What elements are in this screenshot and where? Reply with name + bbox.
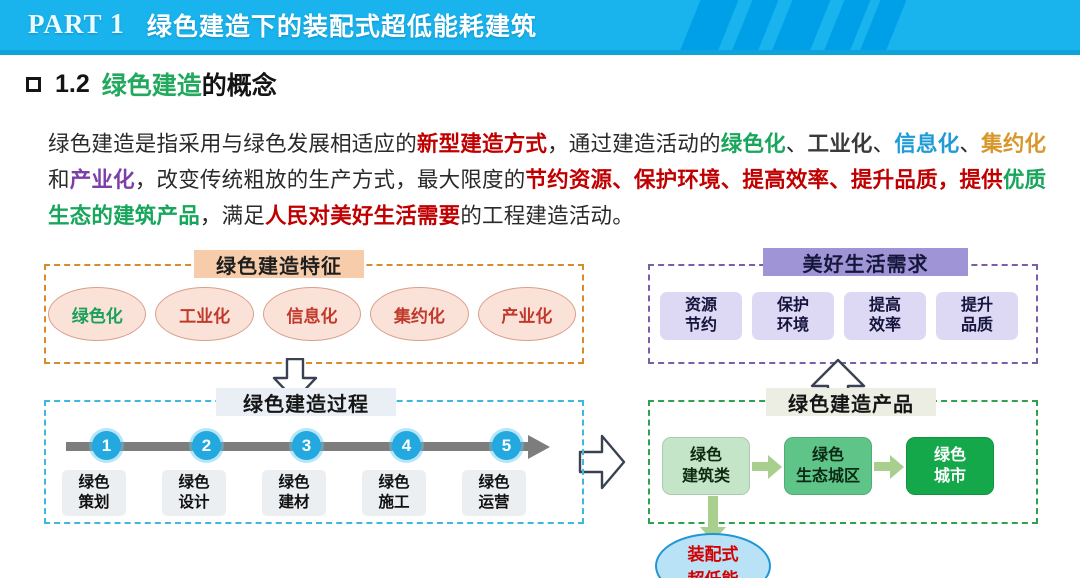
need-item-line2: 环境 — [777, 316, 809, 336]
need-item-line2: 品质 — [961, 316, 993, 336]
product-item[interactable]: 绿色 生态城区 — [784, 437, 872, 495]
concept-diagram: 绿色建造特征 绿色化 工业化 信息化 集约化 产业化 美好生活需求 资源 节约 … — [0, 248, 1080, 578]
product-flow-arrow-icon — [872, 454, 906, 478]
need-item-line1: 保护 — [777, 296, 809, 316]
prefab-callout-line2: 超低能 — [688, 567, 739, 578]
product-item-line1: 绿色 — [812, 445, 844, 466]
banner-stripe — [729, 0, 781, 50]
process-step[interactable]: 绿色 策划 — [62, 470, 126, 516]
para-seg: 、 — [873, 132, 895, 156]
para-seg: ，改变传统粗放的生产方式，最大限度的 — [135, 168, 526, 192]
features-item-list: 绿色化 工业化 信息化 集约化 产业化 — [48, 286, 576, 342]
part-number: 1 — [110, 9, 125, 40]
process-step-line2: 施工 — [378, 493, 409, 513]
arrow-shaft — [708, 496, 718, 529]
process-step[interactable]: 绿色 设计 — [162, 470, 226, 516]
process-step-line1: 绿色 — [178, 473, 209, 493]
process-step-line2: 建材 — [278, 493, 309, 513]
arrow-head — [768, 455, 782, 479]
para-seg: 的工程建造活动。 — [460, 204, 634, 228]
timeline-step-marker[interactable]: 3 — [292, 431, 321, 460]
timeline-step-marker[interactable]: 2 — [192, 431, 221, 460]
process-step-list: 绿色 策划 绿色 设计 绿色 建材 绿色 施工 绿色 运营 — [62, 470, 562, 516]
para-seg-highlight-red: 人民对美好生活需要 — [265, 204, 460, 228]
para-seg: ，通过建造活动的 — [547, 132, 721, 156]
banner-title-group: PART 1 绿色建造下的装配式超低能耗建筑 — [0, 0, 537, 50]
para-seg-highlight-red: 提供 — [959, 168, 1002, 192]
product-flow-arrow-icon — [750, 454, 784, 478]
process-step-line2: 策划 — [78, 493, 109, 513]
para-seg-highlight-green: 绿色化 — [721, 132, 786, 156]
feature-item[interactable]: 信息化 — [263, 287, 361, 341]
section-heading: 1.2 绿色建造的概念 — [26, 66, 277, 102]
para-seg-highlight-purple: 产业化 — [70, 168, 135, 192]
process-step-line2: 设计 — [178, 493, 209, 513]
banner-stripe — [769, 0, 833, 50]
product-item-line2: 生态城区 — [796, 466, 860, 487]
feature-item[interactable]: 工业化 — [155, 287, 253, 341]
para-seg: 和 — [48, 168, 70, 192]
process-step[interactable]: 绿色 建材 — [262, 470, 326, 516]
need-item[interactable]: 资源 节约 — [660, 292, 742, 340]
timeline-step-marker[interactable]: 4 — [392, 431, 421, 460]
product-item[interactable]: 绿色 城市 — [906, 437, 994, 495]
para-seg-highlight-blue: 信息化 — [894, 132, 959, 156]
timeline-step-marker[interactable]: 5 — [492, 431, 521, 460]
needs-item-list: 资源 节约 保护 环境 提高 效率 提升 品质 — [660, 290, 1030, 342]
process-step-line1: 绿色 — [278, 473, 309, 493]
para-seg: ， — [938, 168, 960, 192]
process-timeline: 1 2 3 4 5 — [66, 433, 556, 459]
slide-root: PART 1 绿色建造下的装配式超低能耗建筑 1.2 绿色建造的概念 绿色建造是… — [0, 0, 1080, 578]
para-seg-highlight-red: 节约资源、保护环境、提高效率、提升品质 — [525, 168, 937, 192]
product-item[interactable]: 绿色 建筑类 — [662, 437, 750, 495]
needs-panel-title: 美好生活需求 — [763, 248, 968, 276]
feature-item[interactable]: 绿色化 — [48, 287, 146, 341]
product-item-line2: 建筑类 — [682, 466, 730, 487]
arrow-head — [890, 455, 904, 479]
need-item[interactable]: 提升 品质 — [936, 292, 1018, 340]
product-item-line2: 城市 — [934, 466, 966, 487]
timeline-arrowhead-icon — [528, 435, 550, 459]
product-item-line1: 绿色 — [690, 445, 722, 466]
process-step-line2: 运营 — [478, 493, 509, 513]
need-item-line1: 资源 — [685, 296, 717, 316]
feature-item[interactable]: 集约化 — [370, 287, 468, 341]
process-step-line1: 绿色 — [378, 473, 409, 493]
banner-stripe-decoration — [690, 0, 890, 50]
section-title-black: 的概念 — [202, 72, 277, 100]
need-item-line1: 提高 — [869, 296, 901, 316]
header-banner: PART 1 绿色建造下的装配式超低能耗建筑 — [0, 0, 1080, 50]
section-number: 1.2 — [55, 70, 90, 99]
products-panel-title: 绿色建造产品 — [766, 388, 936, 416]
features-panel-title: 绿色建造特征 — [194, 250, 364, 278]
para-seg: ，满足 — [200, 204, 265, 228]
timeline-step-marker[interactable]: 1 — [92, 431, 121, 460]
part-label: PART 1 — [28, 9, 125, 41]
section-title-green: 绿色建造 — [102, 72, 202, 100]
process-step-line1: 绿色 — [478, 473, 509, 493]
arrow-shaft — [874, 462, 891, 471]
need-item-line1: 提升 — [961, 296, 993, 316]
process-step-line1: 绿色 — [78, 473, 109, 493]
product-item-line1: 绿色 — [934, 445, 966, 466]
process-step[interactable]: 绿色 运营 — [462, 470, 526, 516]
para-seg: 、 — [959, 132, 981, 156]
arrow-right-icon — [578, 433, 626, 491]
banner-underline — [0, 50, 1080, 55]
para-seg-highlight-dark: 工业化 — [808, 132, 873, 156]
need-item-line2: 节约 — [685, 316, 717, 336]
para-seg: 绿色建造是指采用与绿色发展相适应的 — [48, 132, 417, 156]
need-item[interactable]: 保护 环境 — [752, 292, 834, 340]
arrow-shaft — [752, 462, 769, 471]
banner-heading: 绿色建造下的装配式超低能耗建筑 — [147, 7, 537, 43]
need-item[interactable]: 提高 效率 — [844, 292, 926, 340]
section-title: 绿色建造的概念 — [102, 66, 277, 102]
para-seg-highlight-red: 新型建造方式 — [417, 132, 547, 156]
prefab-callout-line1: 装配式 — [688, 542, 739, 567]
process-step[interactable]: 绿色 施工 — [362, 470, 426, 516]
part-word: PART — [28, 9, 102, 39]
products-item-list: 绿色 建筑类 绿色 生态城区 绿色 城市 — [662, 438, 1030, 494]
prefab-callout[interactable]: 装配式 超低能 — [655, 533, 771, 578]
square-bullet-icon — [26, 77, 41, 92]
feature-item[interactable]: 产业化 — [478, 287, 576, 341]
process-panel-title: 绿色建造过程 — [216, 388, 396, 416]
para-seg-highlight-gold: 集约化 — [981, 132, 1046, 156]
need-item-line2: 效率 — [869, 316, 901, 336]
para-seg: 、 — [786, 132, 808, 156]
concept-paragraph: 绿色建造是指采用与绿色发展相适应的新型建造方式，通过建造活动的绿色化、工业化、信… — [48, 126, 1048, 234]
